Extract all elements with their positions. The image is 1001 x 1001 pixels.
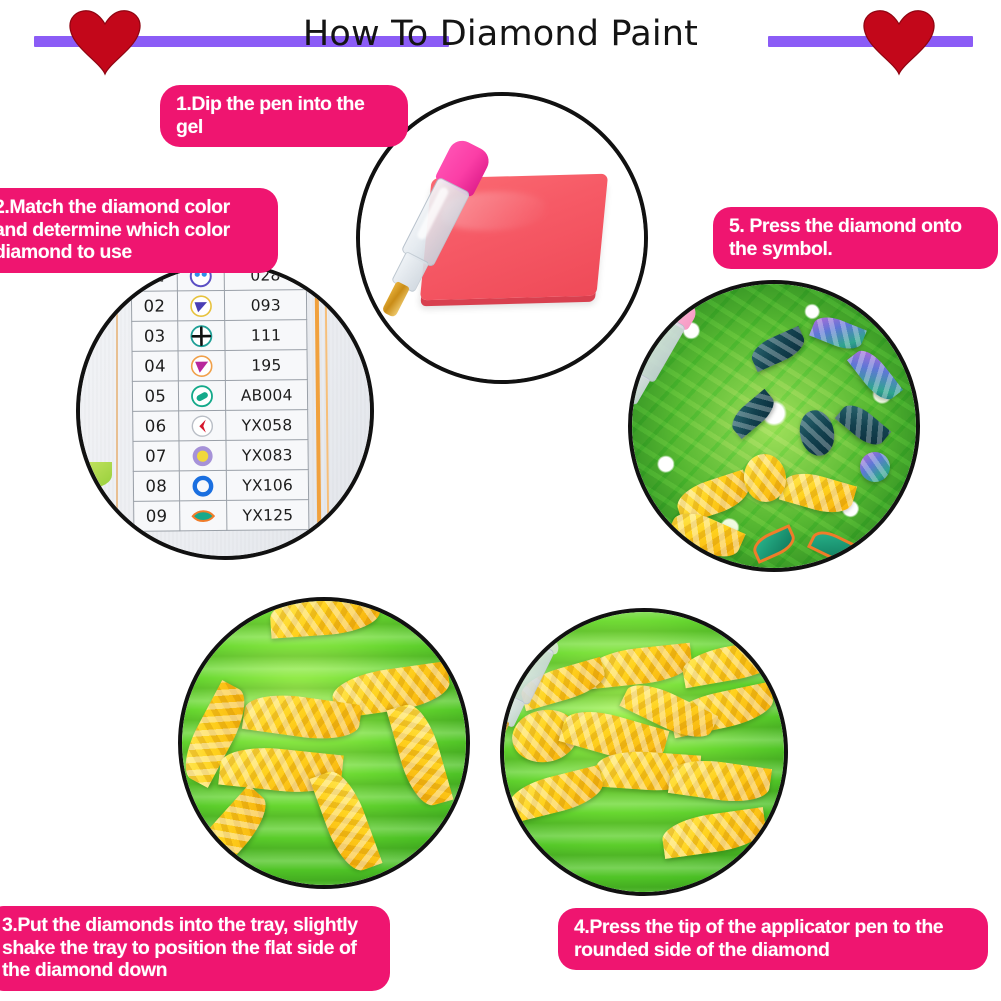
color-legend-table: 01 028 02 <box>131 266 310 532</box>
legend-symbol-cell <box>178 410 226 440</box>
chart-sheet: 01 028 02 <box>80 266 370 556</box>
legend-number: 07 <box>133 441 179 471</box>
legend-symbol-cell <box>179 500 227 530</box>
magenta-wedge-icon <box>189 353 215 379</box>
legend-symbol-cell <box>178 350 226 380</box>
table-row: 08 YX106 <box>133 470 308 502</box>
step-3-label: 3.Put the diamonds into the tray, slight… <box>0 906 390 991</box>
teal-leaf-icon <box>190 503 216 529</box>
legend-number: 04 <box>132 351 178 381</box>
legend-code: YX058 <box>226 410 308 441</box>
step-4-photo <box>500 608 788 896</box>
legend-code: YX125 <box>227 500 309 531</box>
legend-symbol-cell <box>178 380 226 410</box>
red-chevron-icon <box>189 413 215 439</box>
legend-code: 111 <box>225 320 307 351</box>
canvas-scrap <box>80 462 112 488</box>
legend-code: AB004 <box>226 380 308 411</box>
chart-divider-line <box>325 276 330 546</box>
table-row: 02 093 <box>131 290 306 322</box>
table-row: 04 195 <box>132 350 307 382</box>
header-band: How To Diamond Paint <box>0 0 1001 72</box>
page-title: How To Diamond Paint <box>0 14 1001 54</box>
legend-number: 03 <box>132 321 178 351</box>
blue-ring-icon <box>190 473 216 499</box>
table-row: 09 YX125 <box>134 500 309 532</box>
legend-number: 06 <box>133 411 179 441</box>
step-1-label: 1.Dip the pen into the gel <box>160 85 408 147</box>
legend-code: YX083 <box>226 440 308 471</box>
triangle-flag-icon <box>188 293 214 319</box>
sheet-edge <box>116 266 118 556</box>
legend-symbol-cell <box>179 440 227 470</box>
plus-cross-icon <box>188 323 214 349</box>
table-row: 06 YX058 <box>133 410 308 442</box>
color-legend-body: 01 028 02 <box>131 266 309 531</box>
legend-code: 093 <box>225 290 307 321</box>
legend-number: 09 <box>134 501 180 531</box>
table-row: 07 YX083 <box>133 440 308 472</box>
step-5-photo <box>628 280 920 572</box>
legend-code: YX106 <box>227 470 309 501</box>
chart-divider-line <box>315 276 322 546</box>
step-2-photo: 01 028 02 <box>76 262 374 560</box>
legend-number: 02 <box>131 291 177 321</box>
legend-symbol-cell <box>179 470 227 500</box>
poster-canvas: How To Diamond Paint 1.Dip the pen into … <box>0 0 1001 1001</box>
legend-symbol-cell <box>177 320 225 350</box>
step-2-label: 2.Match the diamond color and determine … <box>0 188 278 273</box>
legend-number: 08 <box>133 471 179 501</box>
step-4-label: 4.Press the tip of the applicator pen to… <box>558 908 988 970</box>
teal-capsule-icon <box>189 383 215 409</box>
table-row: 05 AB004 <box>132 380 307 412</box>
legend-code: 195 <box>225 350 307 381</box>
table-row: 03 111 <box>132 320 307 352</box>
step-5-label: 5. Press the diamond onto the symbol. <box>713 207 998 269</box>
legend-symbol-cell <box>177 290 225 320</box>
legend-number: 05 <box>132 381 178 411</box>
gem <box>860 452 890 482</box>
yellow-dot-ring-icon <box>190 443 216 469</box>
step-3-photo <box>178 597 470 889</box>
